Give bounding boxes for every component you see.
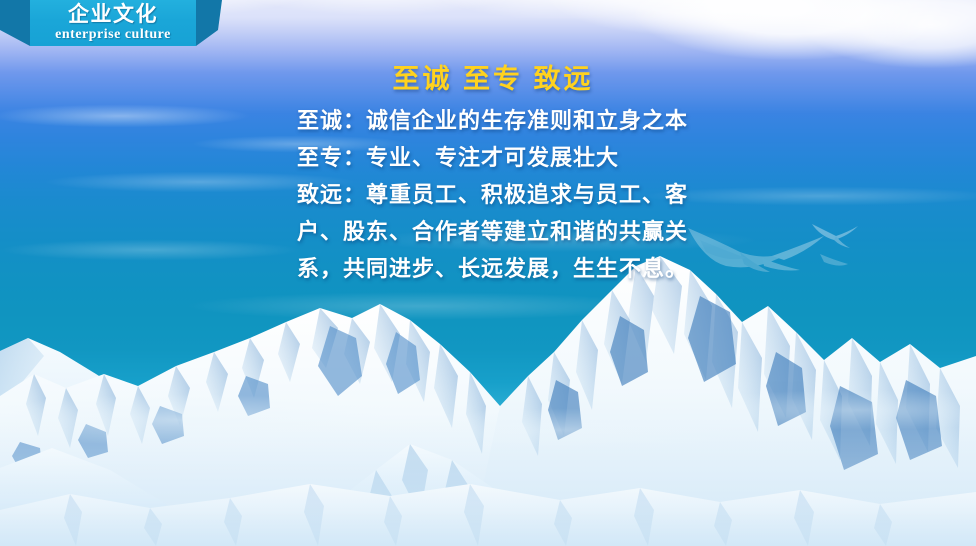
slogan-line-3: 致远：尊重员工、积极追求与员工、客 [297,176,976,213]
slogan-block: 至诚 至专 致远 至诚：诚信企业的生存准则和立身之本 至专：专业、专注才可发展壮… [0,62,976,287]
ribbon-body [0,0,212,46]
slogan-line-4: 户、股东、合作者等建立和谐的共赢关 [297,213,976,250]
slogan-headline: 至诚 至专 致远 [0,62,976,96]
slogan-line-2: 至专：专业、专注才可发展壮大 [297,139,976,176]
slogan-body: 至诚：诚信企业的生存准则和立身之本 至专：专业、专注才可发展壮大 致远：尊重员工… [0,102,976,287]
enterprise-culture-banner: 企业文化 enterprise culture 至诚 至专 致远 至诚：诚信企业… [0,0,976,546]
slogan-line-1: 至诚：诚信企业的生存准则和立身之本 [297,102,976,139]
slogan-line-5: 系，共同进步、长远发展，生生不息。 [297,250,976,287]
snow-mountain-range [0,256,976,546]
